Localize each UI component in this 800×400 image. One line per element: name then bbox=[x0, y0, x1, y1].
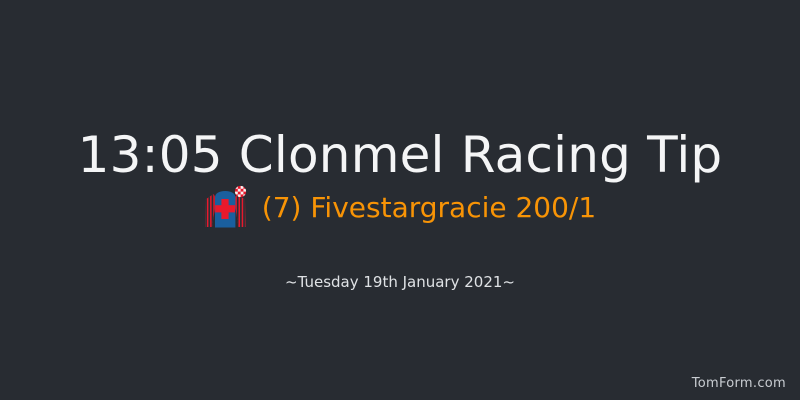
race-date: ~Tuesday 19th January 2021~ bbox=[285, 273, 515, 292]
page-title: 13:05 Clonmel Racing Tip bbox=[78, 126, 723, 184]
tip-row: (7) Fivestargracie 200/1 bbox=[0, 185, 800, 231]
site-watermark: TomForm.com bbox=[692, 375, 786, 392]
racing-tip-card: 13:05 Clonmel Racing Tip bbox=[0, 0, 800, 400]
tip-selection-text: (7) Fivestargracie 200/1 bbox=[262, 191, 596, 225]
date-row: ~Tuesday 19th January 2021~ bbox=[0, 272, 800, 292]
jockey-silks-icon bbox=[204, 185, 248, 231]
silks-cap bbox=[235, 186, 246, 197]
